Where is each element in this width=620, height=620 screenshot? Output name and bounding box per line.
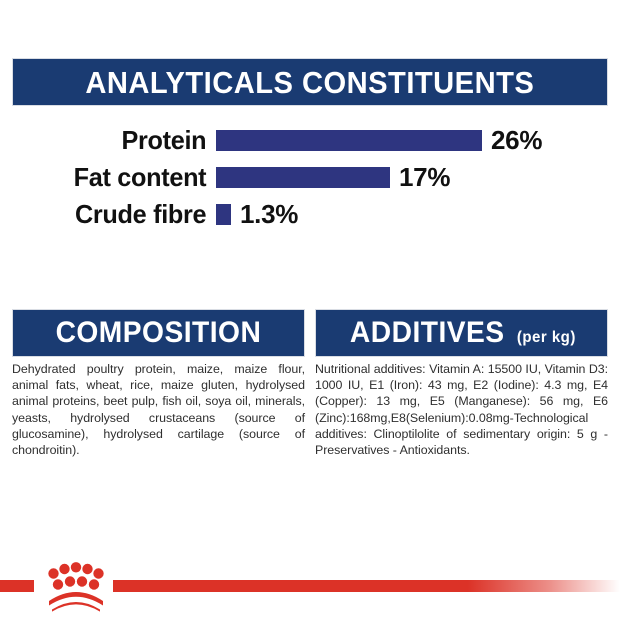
additives-header-title: ADDITIVES [350, 318, 505, 348]
additives-header-inline: ADDITIVES (per kg) [345, 318, 578, 348]
composition-header: COMPOSITION [12, 309, 305, 357]
bar-label-fat-content: Fat content [18, 162, 216, 192]
bar-label-crude-fibre: Crude fibre [18, 199, 216, 229]
bar-value-crude-fibre: 1.3% [240, 199, 298, 229]
chart-row: Crude fibre 1.3% [12, 196, 608, 232]
composition-header-title: COMPOSITION [56, 318, 262, 348]
bar-value-fat-content: 17% [399, 162, 450, 192]
bar-fill-fat-content [216, 167, 390, 188]
bar-label-protein: Protein [18, 125, 216, 155]
footer-brand-bar [0, 556, 620, 620]
additives-body-text: Nutritional additives: Vitamin A: 15500 … [315, 361, 608, 458]
chart-row: Protein 26% [12, 122, 608, 158]
additives-header: ADDITIVES (per kg) [315, 309, 608, 357]
bar-value-protein: 26% [491, 125, 542, 155]
constituents-bar-chart: Protein 26% Fat content 17% Crude fibre … [12, 118, 608, 236]
royal-canin-crown-icon [43, 560, 109, 612]
chart-row: Fat content 17% [12, 159, 608, 195]
bar-track-fat-content: 17% [216, 159, 608, 195]
additives-header-subtitle: (per kg) [517, 330, 576, 346]
composition-body-text: Dehydrated poultry protein, maize, maize… [12, 361, 305, 458]
bar-track-protein: 26% [216, 122, 608, 158]
product-info-panel: ANALYTICALS CONSTITUENTS Protein 26% Fat… [0, 0, 620, 620]
bar-fill-protein [216, 130, 482, 151]
bar-fill-crude-fibre [216, 204, 231, 225]
brand-rule-right [113, 580, 620, 592]
analyticals-header-title: ANALYTICALS CONSTITUENTS [86, 67, 535, 98]
bar-track-crude-fibre: 1.3% [216, 196, 608, 232]
analyticals-constituents-header: ANALYTICALS CONSTITUENTS [12, 58, 608, 106]
brand-rule-left [0, 580, 34, 592]
